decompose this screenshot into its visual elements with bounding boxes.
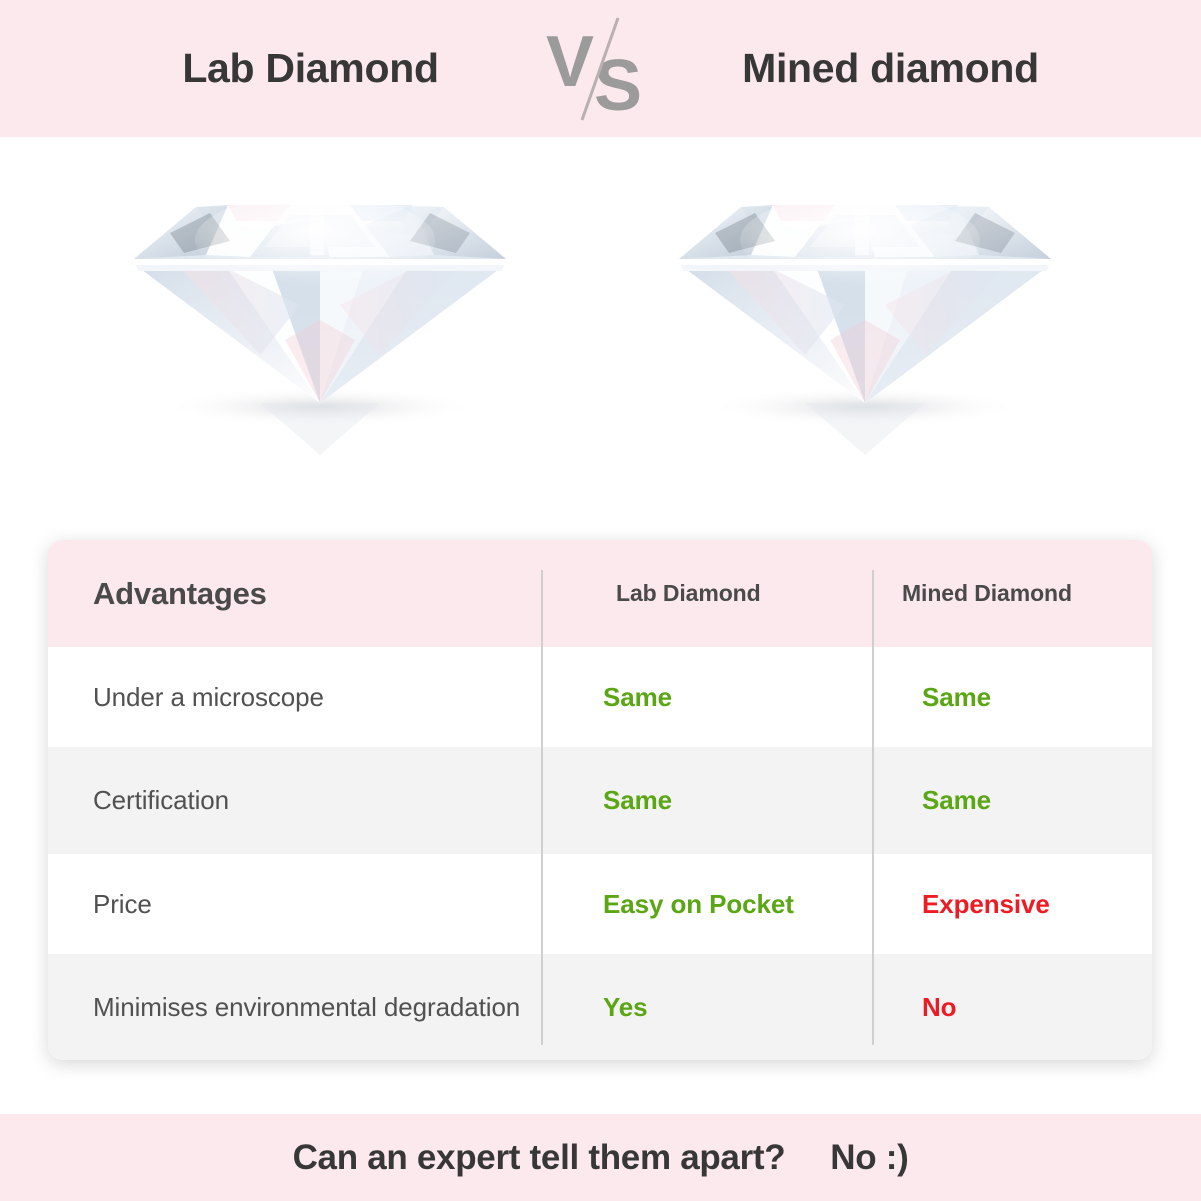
row-label: Price: [48, 886, 541, 923]
table-header-row: Advantages Lab Diamond Mined Diamond: [48, 540, 1152, 647]
row-lab-value: Same: [541, 785, 872, 816]
row-mined-value: Same: [872, 785, 1152, 816]
lab-diamond-image: [110, 155, 530, 485]
table-row: Price Easy on Pocket Expensive: [48, 854, 1152, 954]
footer-statement: Can an expert tell them apart? No :): [293, 1138, 909, 1178]
row-label: Under a microscope: [48, 679, 541, 716]
row-lab-value: Easy on Pocket: [541, 889, 872, 920]
column-divider-1: [541, 570, 543, 1045]
table-row: Under a microscope Same Same: [48, 647, 1152, 747]
column-divider-2: [872, 570, 874, 1045]
svg-text:V: V: [546, 22, 594, 102]
footer-question: Can an expert tell them apart?: [293, 1138, 786, 1177]
top-banner-inner: Lab Diamond V S Mined diamond: [0, 0, 1201, 137]
row-lab-value: Yes: [541, 992, 872, 1023]
svg-text:S: S: [593, 46, 641, 124]
table-header-lab-diamond: Lab Diamond: [541, 580, 872, 607]
versus-icon: V S: [546, 14, 656, 124]
bottom-banner: Can an expert tell them apart? No :): [0, 1114, 1201, 1201]
comparison-table: Advantages Lab Diamond Mined Diamond Und…: [48, 540, 1152, 1060]
table-row: Minimises environmental degradation Yes …: [48, 954, 1152, 1060]
row-label: Minimises environmental degradation: [48, 989, 541, 1026]
row-mined-value: Expensive: [872, 889, 1152, 920]
row-label: Certification: [48, 782, 541, 819]
right-product-title: Mined diamond: [656, 45, 1126, 92]
row-mined-value: No: [872, 992, 1152, 1023]
mined-diamond-image: [655, 155, 1075, 485]
row-lab-value: Same: [541, 682, 872, 713]
row-mined-value: Same: [872, 682, 1152, 713]
comparison-table-card: Advantages Lab Diamond Mined Diamond Und…: [48, 540, 1152, 1060]
footer-answer: No :): [830, 1138, 908, 1177]
table-header-advantages: Advantages: [48, 576, 541, 612]
left-product-title: Lab Diamond: [76, 45, 546, 92]
table-row: Certification Same Same: [48, 747, 1152, 854]
diamond-image-stage: [0, 137, 1201, 537]
top-banner: Lab Diamond V S Mined diamond: [0, 0, 1201, 137]
table-header-mined-diamond: Mined Diamond: [872, 580, 1152, 607]
